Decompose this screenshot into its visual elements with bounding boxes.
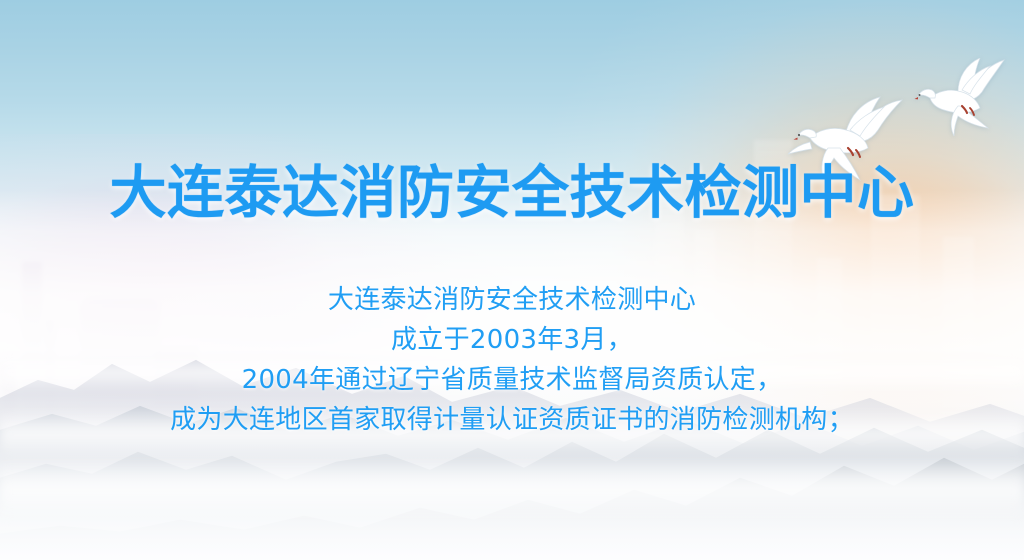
description-line-1: 大连泰达消防安全技术检测中心 — [0, 280, 1024, 320]
page-title: 大连泰达消防安全技术检测中心 — [0, 164, 1024, 224]
banner-content: 大连泰达消防安全技术检测中心 大连泰达消防安全技术检测中心 成立于2003年3月… — [0, 0, 1024, 560]
description-line-2: 成立于2003年3月， — [0, 320, 1024, 360]
description-block: 大连泰达消防安全技术检测中心 成立于2003年3月， 2004年通过辽宁省质量技… — [0, 280, 1024, 440]
description-line-3: 2004年通过辽宁省质量技术监督局资质认定， — [0, 360, 1024, 400]
description-line-4: 成为大连地区首家取得计量认证资质证书的消防检测机构； — [0, 400, 1024, 440]
promo-banner: 大连泰达消防安全技术检测中心 大连泰达消防安全技术检测中心 成立于2003年3月… — [0, 0, 1024, 560]
